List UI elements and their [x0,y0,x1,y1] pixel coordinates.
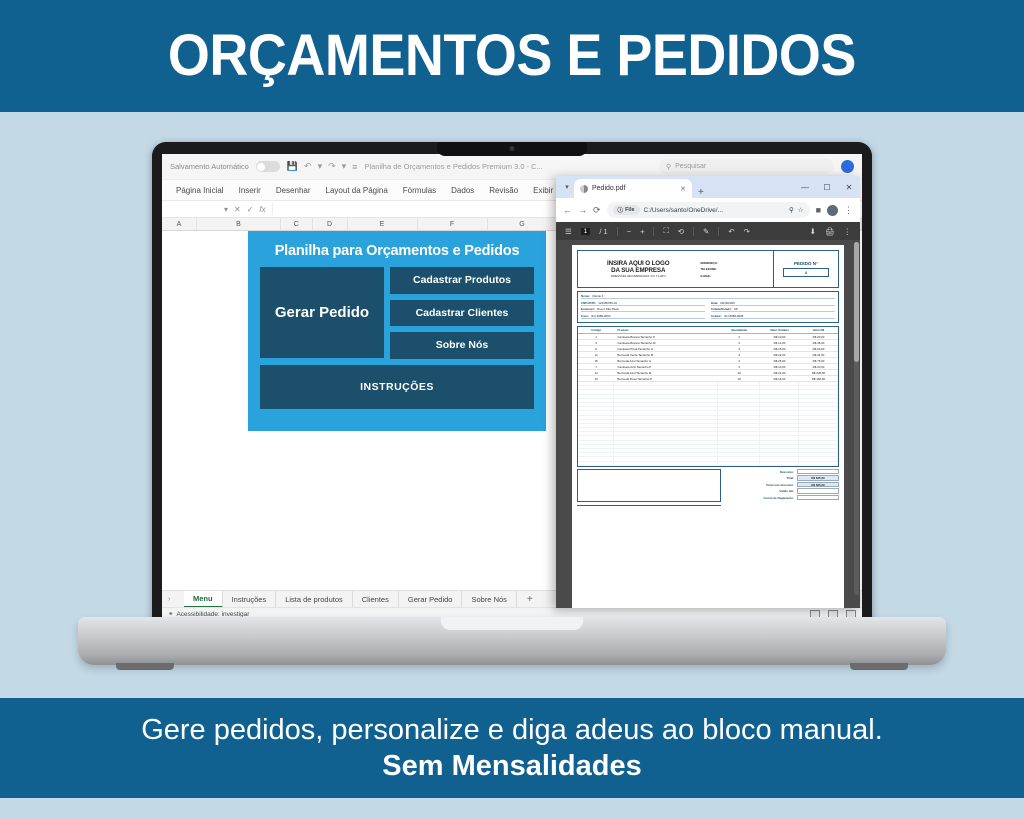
browser-tab-pedido-pdf[interactable]: Pedido.pdf ✕ [574,179,692,198]
field-label: Celular: [711,314,722,318]
total-row: Total: R$ 635,00 [725,475,839,481]
redo-icon[interactable]: ↷ [744,227,750,236]
search-placeholder: Pesquisar [675,163,706,170]
cell-produto: Camiseta Branca Tamanho M [614,341,718,345]
cell-quantidade: 10 [718,371,760,375]
totals-block: Desconto: Total: R$ 635,00 Total com des… [725,469,839,502]
function-icon[interactable]: fx [259,205,265,214]
products-table: Código Produto Quantidade Valor Unitário… [577,326,839,467]
tagline-line-2: Sem Mensalidades [382,748,642,784]
field-label: Data: [711,301,718,305]
cell-valor-unitario: R$ 22,00 [760,371,799,375]
pdf-scrollbar[interactable] [854,242,859,595]
customize-qat-icon[interactable]: ≡ [352,162,357,172]
autosave-label: Salvamento Automático [170,162,249,171]
order-number-value: 4 [783,268,829,277]
ribbon-tab-exibir[interactable]: Exibir [533,186,553,195]
column-header-valor-unitario: Valor Unitário [760,328,799,332]
undo-icon[interactable]: ↶ [728,227,734,236]
client-field-fone: Fone: (11) 9989-0004 [581,314,705,319]
gerar-pedido-button[interactable]: Gerar Pedido [260,267,384,358]
column-header-e[interactable]: E [348,218,418,230]
file-scheme-pill: ⓘ File [613,205,640,215]
total-value [797,469,839,475]
ribbon-tab-layout[interactable]: Layout da Página [326,186,388,195]
cell-codigo: 14 [578,371,614,375]
reload-icon[interactable]: ⟳ [593,205,601,216]
avatar-icon[interactable] [827,205,838,216]
cell-codigo: 11 [578,353,614,357]
kebab-menu-icon[interactable]: ⋮ [844,205,853,216]
ribbon-tab-formulas[interactable]: Fórmulas [403,186,436,195]
chevron-down-icon[interactable]: ▾ [560,176,574,198]
sobre-nos-button[interactable]: Sobre Nós [390,332,534,359]
ribbon-tab-desenhar[interactable]: Desenhar [276,186,311,195]
fit-page-icon[interactable]: ⛶ [663,226,668,236]
kebab-menu-icon[interactable]: ⋮ [844,227,852,236]
logo-line-2: DA SUA EMPRESA [611,267,665,274]
total-value [797,495,839,501]
logo-dimensions-note: DIMENSÕES RECOMENDADAS: 647 X 114PX [611,275,666,278]
contact-label-email: E-MAIL: [700,274,772,278]
field-label: Fone: [581,314,589,318]
field-label: Cidade/Estado: [711,307,732,311]
top-banner: ORÇAMENTOS E PEDIDOS [0,0,1024,112]
cell-valor: R$ 48,00 [799,341,838,345]
bottom-banner: Gere pedidos, personalize e diga adeus a… [0,698,1024,798]
cell-valor-unitario: R$ 16,00 [760,377,799,381]
table-empty-row [578,462,838,466]
order-number-block: PEDIDO N° 4 [773,251,838,287]
total-label: Total com desconto: [725,483,797,487]
divider [693,227,694,236]
field-value: Cliente 4 [592,294,603,298]
cadastrar-produtos-button[interactable]: Cadastrar Produtos [390,267,534,294]
divider [617,227,618,236]
field-value: SP [734,307,738,311]
close-icon[interactable]: ✕ [680,185,686,193]
document-footer: Desconto: Total: R$ 635,00 Total com des… [577,469,839,502]
client-row: Endereço: Rua 4 São Paulo Cidade/Estado:… [581,307,835,312]
field-label: Nome: [581,294,590,298]
sheet-tab-instrucoes[interactable]: Instruções [223,591,277,608]
page-title: ORÇAMENTOS E PEDIDOS [168,27,856,85]
pdf-page-current[interactable]: 1 [581,228,591,235]
column-header-b[interactable]: B [197,218,281,230]
company-contact-fields: ENDEREÇO: TELEFONE: E-MAIL: [698,251,772,287]
total-row: Total com desconto: R$ 635,00 [725,482,839,488]
sheet-tab-clientes[interactable]: Clientes [353,591,399,608]
cell-produto: Bermuda Verde Tamanho M [614,353,718,357]
field-value: (11) 9989-0004 [591,314,611,318]
new-tab-button[interactable]: + [698,187,704,198]
tagline-line-1: Gere pedidos, personalize e diga adeus a… [141,712,883,748]
client-row: Nome: Cliente 4 [581,294,835,299]
pdf-favicon [580,185,588,193]
pdf-toolbar: ☰ 1 / 1 − + ⛶ ⟲ ✎ ↶ ↷ ⬇ 🖨 [556,222,860,240]
download-icon[interactable]: ⬇ [810,227,816,236]
zoom-out-button[interactable]: − [627,227,631,236]
sheet-tab-sobre-nos[interactable]: Sobre Nós [462,591,516,608]
cell-quantidade: 2 [718,353,760,357]
address-bar[interactable]: ⓘ File C:/Users/santo/OneDrive/... ⚲ ☆ [607,202,810,218]
cell-produto: Camiseta Preta Tamanho G [614,347,718,351]
total-row: Forma de Pagamento: [725,495,839,501]
close-icon[interactable]: ✕ [234,205,241,214]
check-icon[interactable]: ✓ [247,205,254,214]
chevron-down-icon[interactable]: ▾ [342,161,347,172]
minimize-button[interactable]: — [794,176,816,198]
column-header-d[interactable]: D [313,218,348,230]
column-header-a[interactable]: A [162,218,197,230]
total-label: Desconto: [725,470,797,474]
extensions-icon[interactable]: ■ [816,205,821,215]
pdf-toolbar-right: ⬇ 🖨 ⋮ [810,227,851,236]
quick-access-toolbar[interactable]: 💾 ↶ ▾ ↷ ▾ ≡ [287,161,358,172]
pdf-page: INSIRA AQUI O LOGO DA SUA EMPRESA DIMENS… [572,245,844,608]
ribbon-tab-revisao[interactable]: Revisão [489,186,518,195]
cell-codigo: 1 [578,335,614,339]
undo-icon[interactable]: ↶ [304,161,312,172]
logo-placeholder: INSIRA AQUI O LOGO DA SUA EMPRESA DIMENS… [578,251,698,287]
cadastrar-clientes-button[interactable]: Cadastrar Clientes [390,300,534,327]
sheet-tab-menu[interactable]: Menu [184,591,223,608]
redo-icon[interactable]: ↷ [328,161,336,172]
sheet-tab-gerar-pedido[interactable]: Gerar Pedido [399,591,463,608]
cell-codigo: 7 [578,365,614,369]
cell-produto: Camiseta Azul Tamanho P [614,365,718,369]
menu-panel-title: Planilha para Orçamentos e Pedidos [260,243,534,259]
column-header-quantidade: Quantidade [718,328,760,332]
chrome-pdf-window: ▾ Pedido.pdf ✕ + — ☐ ✕ ← → [556,176,860,608]
save-icon[interactable]: 💾 [287,161,298,172]
add-sheet-button[interactable]: + [517,594,543,605]
field-value: 09/10/2025 [720,301,734,305]
chevron-down-icon[interactable]: ▾ [224,205,228,214]
menu-side-buttons: Cadastrar Produtos Cadastrar Clientes So… [390,267,534,359]
cell-valor: R$ 75,00 [799,359,838,363]
client-field-celular: Celular: (11) 8989-0005 [711,314,835,319]
search-input[interactable]: ⚲ Pesquisar [659,159,834,174]
client-field-cidade-estado: Cidade/Estado: SP [711,307,835,312]
search-icon[interactable]: ⚲ [789,206,794,214]
cell-valor-unitario: R$ 10,00 [760,335,799,339]
total-value: R$ 635,00 [797,482,839,488]
column-header-c[interactable]: C [281,218,313,230]
file-pill-label: File [625,207,634,213]
client-field-cnpj: CNPJ/CPF: 123456789-04 [581,301,705,306]
menu-panel: Planilha para Orçamentos e Pedidos Gerar… [248,231,546,431]
total-label: Total: [725,476,797,480]
document-title: Planilha de Orçamentos e Pedidos Premium… [364,162,652,171]
laptop-base [78,617,946,665]
column-header-produto: Produto [614,328,718,332]
total-row: Desconto: [725,469,839,475]
signature-line [577,505,721,506]
client-field-data: Data: 09/10/2025 [711,301,835,306]
observations-box [577,469,721,502]
total-value: R$ 635,00 [797,475,839,481]
laptop-screen: Salvamento Automático 💾 ↶ ▾ ↷ ▾ ≡ Planil… [162,154,862,620]
search-icon: ⚲ [666,163,671,171]
total-label: Válido até: [725,489,797,493]
cell-valor-unitario: R$ 15,00 [760,347,799,351]
cell-produto: Bermuda Rosa Tamanho P [614,377,718,381]
client-info-block: Nome: Cliente 4 CNPJ/CPF: 123456789-04 [577,291,839,323]
column-header-f[interactable]: F [418,218,488,230]
logo-line-1: INSIRA AQUI O LOGO [607,260,669,267]
chevron-down-icon[interactable]: ▾ [318,161,323,172]
divider [653,227,654,236]
instrucoes-button[interactable]: INSTRUÇÕES [260,365,534,409]
arrow-left-icon[interactable]: ← [563,205,572,215]
chrome-toolbar: ← → ⟳ ⓘ File C:/Users/santo/OneDrive/...… [556,198,860,222]
field-value: 123456789-04 [598,301,617,305]
chrome-tab-strip: ▾ Pedido.pdf ✕ + — ☐ ✕ [556,176,860,198]
cell-codigo: 2 [578,341,614,345]
cell-quantidade: 10 [718,377,760,381]
client-row: Fone: (11) 9989-0004 Celular: (11) 8989-… [581,314,835,319]
total-label: Forma de Pagamento: [725,496,797,500]
cell-valor-unitario: R$ 25,00 [760,359,799,363]
info-icon: ⓘ [618,206,624,214]
ribbon-tab-dados[interactable]: Dados [451,186,474,195]
contact-label-endereco: ENDEREÇO: [700,261,772,265]
order-number-label: PEDIDO N° [794,261,818,266]
laptop-mockup: Salvamento Automático 💾 ↶ ▾ ↷ ▾ ≡ Planil… [0,112,1024,698]
cell-quantidade: 4 [718,341,760,345]
column-header-valor: Valor R$ [799,328,838,332]
field-value: Rua 4 São Paulo [597,307,619,311]
column-header-codigo: Código [578,328,614,332]
cell-quantidade: 2 [718,365,760,369]
zoom-in-button[interactable]: + [640,227,644,236]
rotate-icon[interactable]: ⟲ [678,227,684,236]
pdf-viewport[interactable]: INSIRA AQUI O LOGO DA SUA EMPRESA DIMENS… [556,240,860,608]
laptop-lid: Salvamento Automático 💾 ↶ ▾ ↷ ▾ ≡ Planil… [152,142,872,650]
cell-quantidade: 4 [718,347,760,351]
window-controls: — ☐ ✕ [794,176,860,198]
table-header-row: Código Produto Quantidade Valor Unitário… [578,327,838,334]
cell-valor-unitario: R$ 12,00 [760,341,799,345]
field-label: CNPJ/CPF: [581,301,596,305]
ribbon-tab-pagina-inicial[interactable]: Página Inicial [176,186,224,195]
client-row: CNPJ/CPF: 123456789-04 Data: 09/10/2025 [581,301,835,306]
pdf-page-total: / 1 [599,227,607,236]
cell-produto: Camiseta Branca Tamanho P [614,335,718,339]
print-icon[interactable]: 🖨 [825,227,835,236]
total-value [797,488,839,494]
sidebar-icon[interactable]: ☰ [565,227,572,236]
cell-valor-unitario: R$ 10,00 [760,365,799,369]
cell-codigo: 6 [578,347,614,351]
column-header-g[interactable]: G [488,218,558,230]
total-row: Válido até: [725,488,839,494]
cell-valor: R$ 44,00 [799,353,838,357]
maximize-button[interactable]: ☐ [816,176,838,198]
autosave-toggle[interactable] [256,161,280,172]
pen-icon[interactable]: ✎ [703,227,709,236]
camera-icon [510,146,515,151]
client-field-endereco: Endereço: Rua 4 São Paulo [581,307,705,312]
cell-valor-unitario: R$ 22,00 [760,353,799,357]
avatar[interactable] [841,160,854,173]
cell-quantidade: 2 [718,335,760,339]
name-box[interactable] [172,203,218,215]
client-field-nome: Nome: Cliente 4 [581,294,835,299]
field-label: Endereço: [581,307,595,311]
cell-produto: Bermuda Azul Tamanho M [614,371,718,375]
document-header: INSIRA AQUI O LOGO DA SUA EMPRESA DIMENS… [577,250,839,288]
cell-quantidade: 3 [718,359,760,363]
star-icon[interactable]: ☆ [798,206,804,214]
cell-valor: R$ 160,00 [799,377,838,381]
laptop-foot [116,663,174,670]
url-text: C:/Users/santo/OneDrive/... [644,207,785,214]
cell-valor: R$ 60,00 [799,347,838,351]
sheet-tab-lista-de-produtos[interactable]: Lista de produtos [276,591,353,608]
cell-valor: R$ 20,00 [799,335,838,339]
cell-codigo: 15 [578,359,614,363]
field-value: (11) 8989-0005 [724,314,744,318]
contact-label-telefone: TELEFONE: [700,267,772,271]
cell-valor: R$ 20,00 [799,365,838,369]
cell-codigo: 19 [578,377,614,381]
tab-title: Pedido.pdf [592,185,676,192]
divider [718,227,719,236]
arrow-right-icon[interactable]: → [578,205,587,215]
close-button[interactable]: ✕ [838,176,860,198]
laptop-foot [850,663,908,670]
menu-buttons-row: Gerar Pedido Cadastrar Produtos Cadastra… [260,267,534,359]
chevron-right-icon[interactable]: › [168,596,170,603]
cell-valor: R$ 220,00 [799,371,838,375]
ribbon-tab-inserir[interactable]: Inserir [239,186,261,195]
cell-produto: Bermuda Azul Tamanho G [614,359,718,363]
